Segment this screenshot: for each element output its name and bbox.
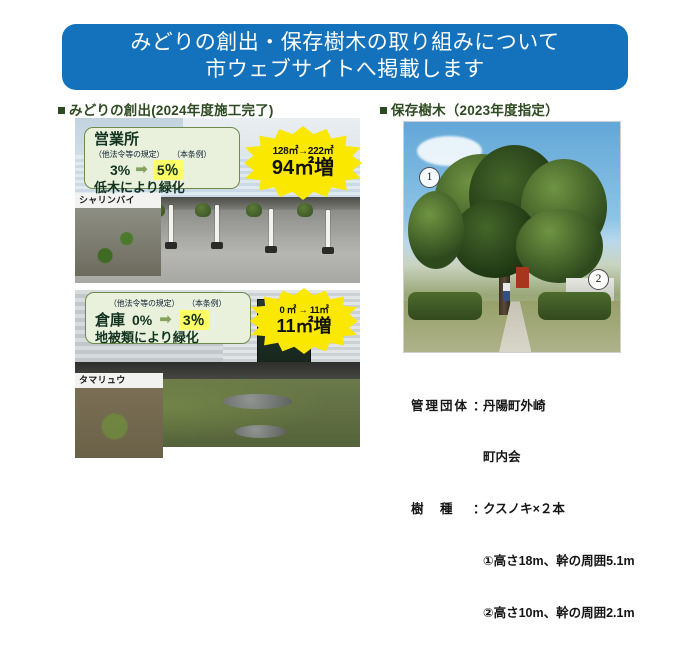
photo-shrine xyxy=(516,267,529,288)
inset-groundcover-image xyxy=(75,388,163,458)
callout-office-value-before: 3% xyxy=(110,162,130,178)
section-heading-left-label: みどりの創出(2024年度施工完了) xyxy=(69,103,274,118)
photo-shrub xyxy=(246,203,262,217)
callout-office-footnote: 低木により緑化 xyxy=(94,181,231,195)
tree-info-block: 管理団体 ： 丹陽町外崎 町内会 樹 種 ： クスノキ×２本 ①高さ18m、幹の… xyxy=(411,363,635,656)
section-heading-right-label: 保存樹木（2023年度指定） xyxy=(391,103,559,118)
title-banner: みどりの創出・保存樹木の取り組みについて 市ウェブサイトへ掲載します xyxy=(62,24,628,90)
tree-info-species-item-1: ①高さ18m、幹の周囲5.1m xyxy=(411,553,635,570)
photo-manhole-lid xyxy=(235,425,286,438)
title-line-1: みどりの創出・保存樹木の取り組みについて xyxy=(130,30,559,57)
inset-groundcover-caption: タマリュウ xyxy=(75,373,163,388)
callout-office-sublabels: （他法令等の規定） （本条例） xyxy=(94,149,231,160)
callout-warehouse-value-after: 3％ xyxy=(179,310,209,330)
tree-marker-2: 2 xyxy=(588,269,609,290)
burst-office-detail: 128㎡→222㎡ xyxy=(273,147,334,157)
callout-warehouse-sublabels: （他法令等の規定） （本条例） xyxy=(109,298,242,309)
callout-warehouse: （他法令等の規定） （本条例） 倉庫 0% ➡ 3％ 地被類により緑化 xyxy=(85,292,251,344)
callout-warehouse-label-after: （本条例） xyxy=(187,298,226,309)
arrow-right-icon: ➡ xyxy=(159,312,172,327)
photo-camphor-tree xyxy=(403,121,621,353)
callout-warehouse-title: 倉庫 xyxy=(95,309,125,330)
photo-bollard xyxy=(326,210,330,248)
inset-shrub-caption: シャリンバイ xyxy=(75,193,161,208)
inset-shrub-photo: シャリンバイ xyxy=(75,193,161,276)
tree-info-row-species: 樹 種 ： クスノキ×２本 xyxy=(411,501,635,518)
tree-info-org-key: 管理団体 xyxy=(411,398,473,415)
photo-side-tree xyxy=(408,191,464,269)
photo-bollard xyxy=(269,209,273,247)
slide-page: みどりの創出・保存樹木の取り組みについて 市ウェブサイトへ掲載します みどりの創… xyxy=(0,0,690,488)
callout-warehouse-values: 倉庫 0% ➡ 3％ xyxy=(95,309,242,330)
tree-info-org-value-cont: 町内会 xyxy=(411,449,635,466)
burst-warehouse-headline: 11㎡増 xyxy=(276,317,331,336)
callout-office-label-after: （本条例） xyxy=(172,149,211,160)
photo-shrub xyxy=(297,203,313,217)
photo-person xyxy=(503,283,509,301)
burst-office-headline: 94㎡増 xyxy=(272,158,334,179)
tree-marker-1: 1 xyxy=(419,167,440,188)
callout-office-title: 営業所 xyxy=(94,132,231,148)
starburst-area-increase-warehouse: 0 ㎡ → 11㎡ 11㎡増 xyxy=(250,288,358,354)
tree-info-species-key: 樹 種 xyxy=(411,501,473,518)
tree-info-org-value: 丹陽町外崎 xyxy=(483,398,546,415)
title-line-2: 市ウェブサイトへ掲載します xyxy=(205,57,485,84)
section-heading-green-creation: みどりの創出(2024年度施工完了) xyxy=(58,99,274,119)
bullet-square-icon xyxy=(380,107,387,114)
callout-office-label-before: （他法令等の規定） xyxy=(94,149,164,160)
callout-office-values: 3% ➡ 5％ xyxy=(94,160,231,180)
tree-info-species-value: クスノキ×２本 xyxy=(483,501,565,518)
photo-hedge xyxy=(408,292,481,320)
burst-warehouse-detail: 0 ㎡ → 11㎡ xyxy=(279,306,328,316)
photo-bollard xyxy=(169,205,173,243)
tree-info-row-organization: 管理団体 ： 丹陽町外崎 xyxy=(411,398,635,415)
callout-warehouse-value-before: 0% xyxy=(132,312,152,328)
inset-shrub-image xyxy=(75,208,161,276)
inset-groundcover-photo: タマリュウ xyxy=(75,373,163,458)
bullet-square-icon xyxy=(58,107,65,114)
photo-manhole-lid xyxy=(223,394,291,410)
callout-office: 営業所 （他法令等の規定） （本条例） 3% ➡ 5％ 低木により緑化 xyxy=(84,127,240,189)
callout-warehouse-label-before: （他法令等の規定） xyxy=(109,298,179,309)
photo-hedge xyxy=(538,292,611,320)
starburst-area-increase-office: 128㎡→222㎡ 94㎡増 xyxy=(244,126,362,200)
photo-bollard xyxy=(215,205,219,243)
callout-warehouse-footnote: 地被類により緑化 xyxy=(95,331,242,345)
section-heading-preserved-trees: 保存樹木（2023年度指定） xyxy=(380,99,559,119)
arrow-right-icon: ➡ xyxy=(135,162,148,177)
photo-shrub xyxy=(195,203,211,217)
callout-office-value-after: 5％ xyxy=(153,160,183,180)
tree-info-species-colon: ： xyxy=(473,501,483,518)
tree-info-org-colon: ： xyxy=(473,398,483,415)
tree-info-species-item-2: ②高さ10m、幹の周囲2.1m xyxy=(411,605,635,622)
